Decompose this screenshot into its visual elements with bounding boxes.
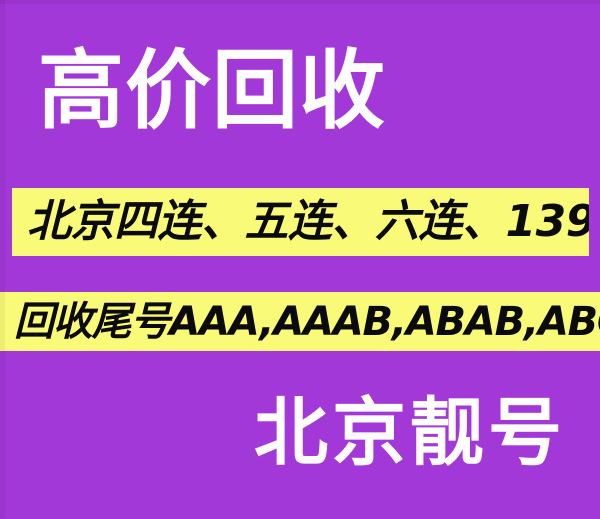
highlight-banner-patterns-label: 回收尾号AAA,AAAB,ABAB,ABCD xyxy=(14,302,600,342)
promo-poster: 高价回收 北京四连、五连、六连、1390 回收尾号AAA,AAAB,ABAB,A… xyxy=(0,0,600,519)
highlight-banner-patterns: 回收尾号AAA,AAAB,ABAB,ABCD xyxy=(0,292,600,351)
highlight-banner-numbers: 北京四连、五连、六连、1390 xyxy=(12,188,589,256)
highlight-banner-numbers-label: 北京四连、五连、六连、1390 xyxy=(27,200,589,244)
footer-title: 北京靓号 xyxy=(254,396,566,470)
page-title: 高价回收 xyxy=(38,48,386,134)
